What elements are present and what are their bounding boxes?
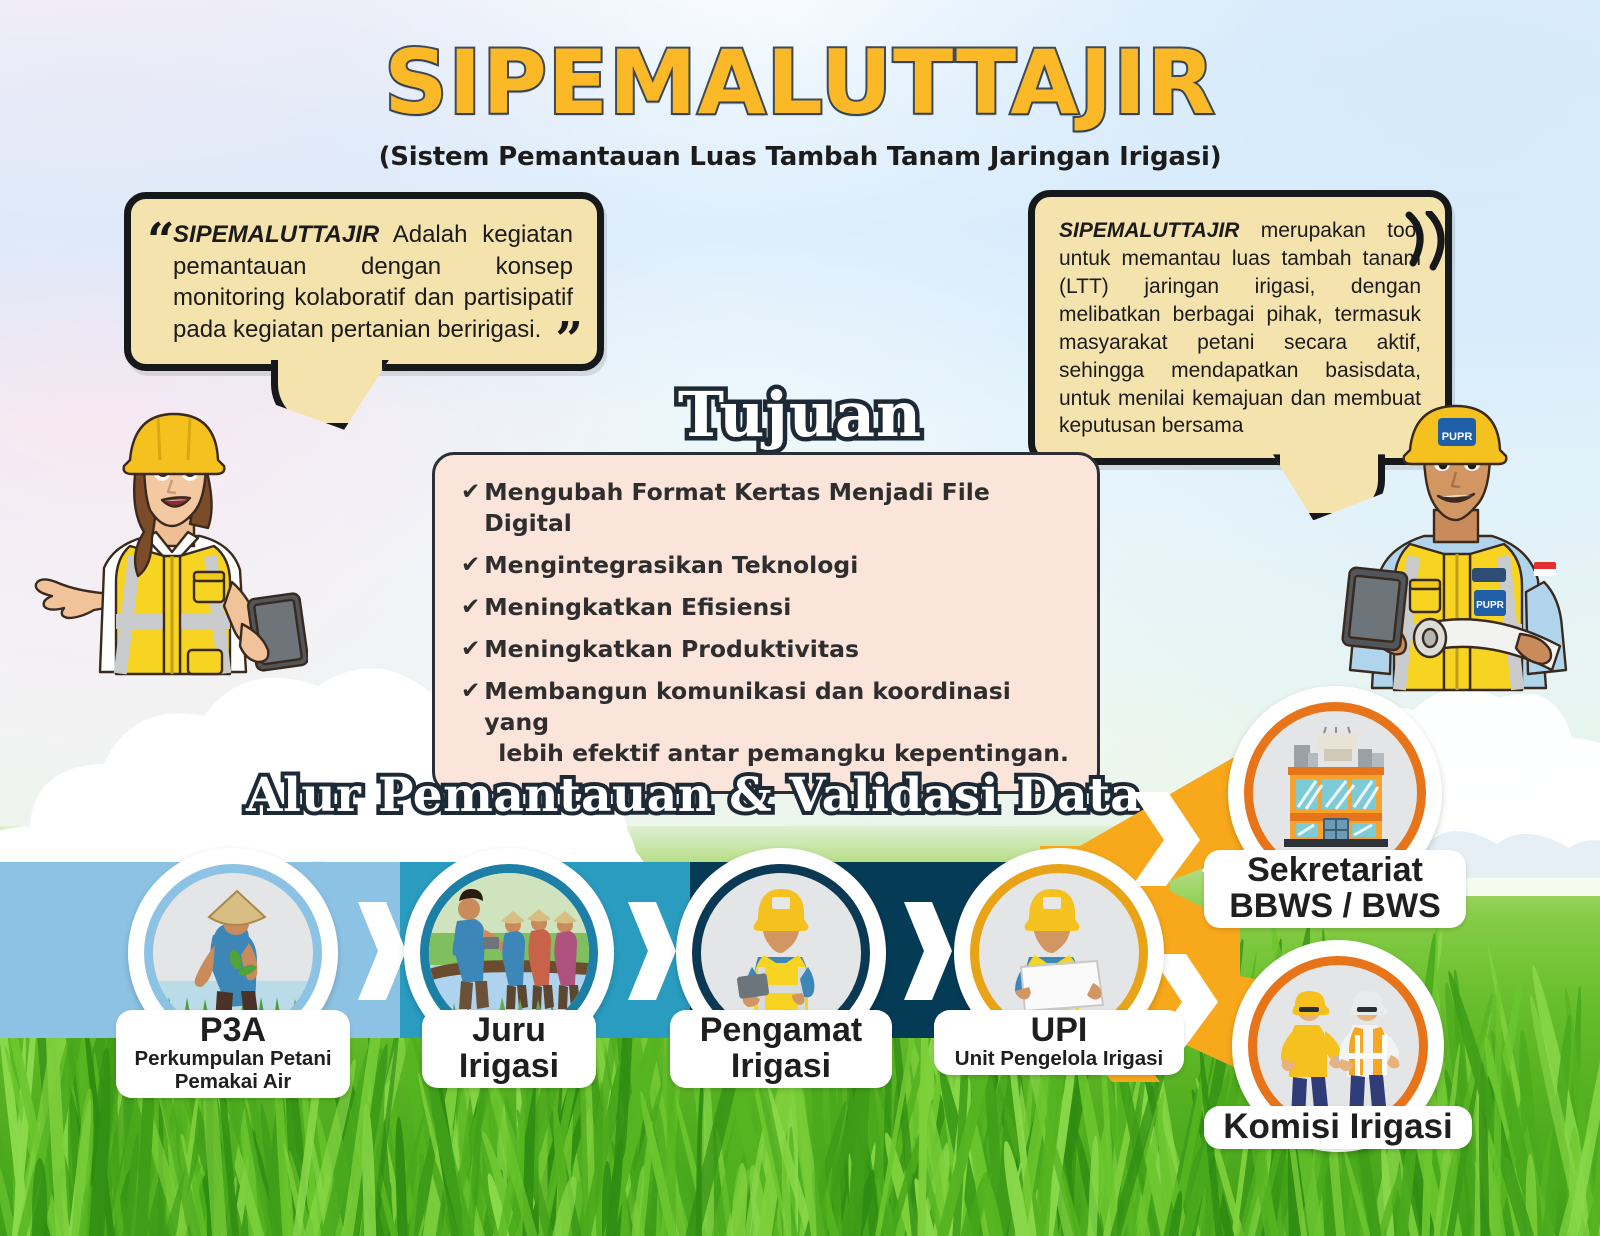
open-quote-icon: “ — [147, 213, 175, 269]
flow-node-sekretariat-title1: Sekretariat — [1217, 852, 1453, 888]
chevron-right-icon — [352, 898, 408, 1004]
goal-text: Membangun komunikasi dan koordinasi yang… — [484, 676, 1073, 769]
flow-node-juru-label: Juru Irigasi — [422, 1010, 596, 1088]
farmer-planting-icon — [153, 873, 313, 1033]
flow-node-sekretariat-label: Sekretariat BBWS / BWS — [1204, 850, 1466, 928]
page-title: SIPEMALUTTAJIR — [0, 38, 1600, 128]
flow-node-p3a-sub2: Pemakai Air — [129, 1071, 337, 1094]
flow-node-komisi-title: Komisi Irigasi — [1217, 1108, 1459, 1145]
title-block: SIPEMALUTTAJIR (Sistem Pemantauan Luas T… — [0, 38, 1600, 172]
tujuan-list-box: ✔ Mengubah Format Kertas Menjadi File Di… — [432, 452, 1100, 794]
flow-node-juru-title1: Juru — [435, 1012, 583, 1048]
goal-text: Meningkatkan Efisiensi — [484, 592, 791, 623]
flow-node-pengamat-title2: Irigasi — [683, 1048, 879, 1084]
flow-node-sekretariat-title2: BBWS / BWS — [1217, 888, 1453, 924]
two-officials-icon — [1263, 975, 1413, 1127]
goal-text-line2: lebih efektif antar pemangku kepentingan… — [484, 738, 1073, 769]
male-engineer-character: PUPR PUPR — [1306, 402, 1598, 708]
female-engineer-character — [18, 406, 308, 706]
check-icon: ✔ — [461, 477, 480, 507]
infographic-canvas: SIPEMALUTTAJIR (Sistem Pemantauan Luas T… — [0, 0, 1600, 1236]
flow-node-upi-label: UPI Unit Pengelola Irigasi — [934, 1010, 1184, 1075]
chevron-right-icon — [622, 898, 678, 1004]
flow-node-komisi-label: Komisi Irigasi — [1204, 1106, 1472, 1149]
field-officer-group-icon — [429, 873, 589, 1033]
flow-node-pengamat-title1: Pengamat — [683, 1012, 879, 1048]
flow-node-juru-title2: Irigasi — [435, 1048, 583, 1084]
flow-heading: Alur Pemantauan & Validasi Data — [246, 768, 1141, 823]
chevron-right-icon — [898, 898, 954, 1004]
goal-text: Mengubah Format Kertas Menjadi File Digi… — [484, 477, 1073, 539]
goal-item: ✔ Membangun komunikasi dan koordinasi ya… — [461, 676, 1073, 769]
svg-text:PUPR: PUPR — [1442, 431, 1473, 443]
check-icon: ✔ — [461, 592, 480, 622]
goal-text: Mengintegrasikan Teknologi — [484, 550, 858, 581]
quote-swoosh-icon — [1403, 211, 1449, 271]
goal-text-line1: Membangun komunikasi dan koordinasi yang — [484, 677, 1011, 736]
flow-node-p3a-title: P3A — [129, 1012, 337, 1048]
bubble-left-brand: SIPEMALUTTAJIR — [173, 221, 379, 248]
flow-node-pengamat-label: Pengamat Irigasi — [670, 1010, 892, 1088]
flow-node-upi-title: UPI — [947, 1012, 1171, 1048]
flow-node-p3a-label: P3A Perkumpulan Petani Pemakai Air — [116, 1010, 350, 1098]
check-icon: ✔ — [461, 676, 480, 706]
svg-text:PUPR: PUPR — [1476, 600, 1505, 611]
flow-node-upi-sub: Unit Pengelola Irigasi — [947, 1048, 1171, 1071]
bubble-left-text: SIPEMALUTTAJIR Adalah kegiatan pemantaua… — [155, 219, 573, 346]
goal-item: ✔ Meningkatkan Produktivitas — [461, 634, 1073, 665]
goal-item: ✔ Mengintegrasikan Teknologi — [461, 550, 1073, 581]
office-building-icon — [1260, 723, 1410, 853]
check-icon: ✔ — [461, 550, 480, 580]
close-quote-icon: ” — [555, 312, 583, 368]
check-icon: ✔ — [461, 634, 480, 664]
speech-bubble-left: “ SIPEMALUTTAJIR Adalah kegiatan pemanta… — [124, 192, 604, 371]
goal-item: ✔ Mengubah Format Kertas Menjadi File Di… — [461, 477, 1073, 539]
bubble-right-brand: SIPEMALUTTAJIR — [1059, 219, 1239, 242]
goal-text: Meningkatkan Produktivitas — [484, 634, 859, 665]
flow-node-p3a-sub1: Perkumpulan Petani — [129, 1048, 337, 1071]
goal-item: ✔ Meningkatkan Efisiensi — [461, 592, 1073, 623]
page-subtitle: (Sistem Pemantauan Luas Tambah Tanam Jar… — [0, 142, 1600, 172]
